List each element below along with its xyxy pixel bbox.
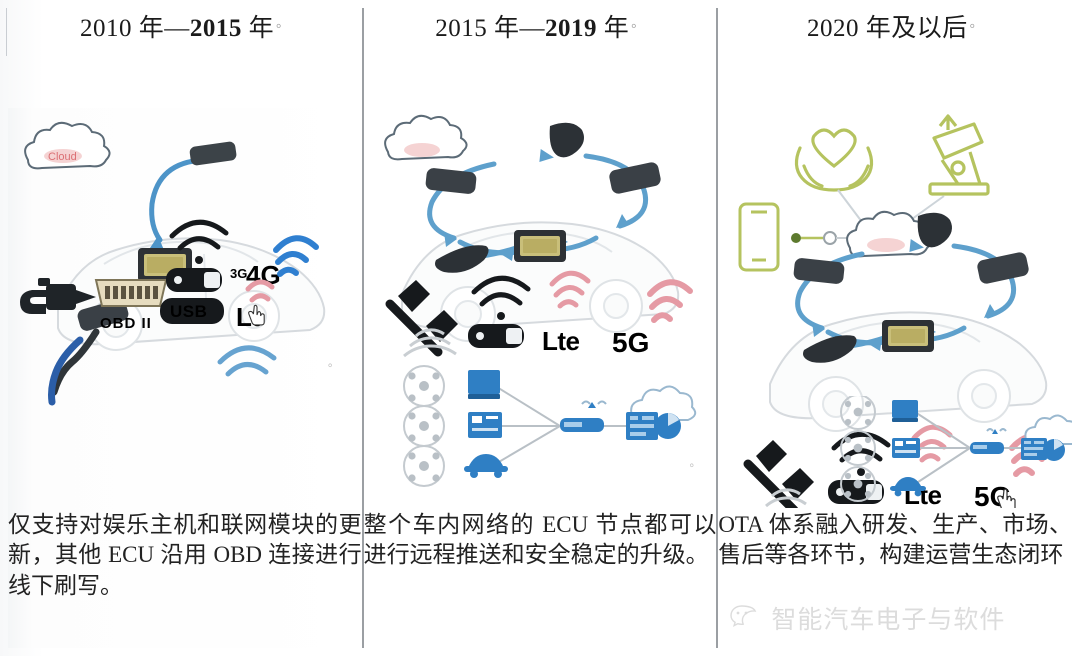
comparison-table: 2010 年—2015 年。 2015 年—2019 年。 2020 年及以后。 — [8, 8, 1072, 648]
network-lte-label: Lt — [236, 302, 260, 332]
network-3g-label: 3G — [230, 266, 247, 281]
figure-cell-2: Lte 5G — [363, 108, 718, 509]
stray-punct-1: 。 — [328, 354, 339, 370]
panel-3-network-topology-diagram — [838, 396, 1072, 508]
header-2-plain: 2015 年— — [435, 15, 545, 42]
vehicle-icon — [464, 454, 508, 478]
page-canvas: 2010 年—2015 年。 2015 年—2019 年。 2020 年及以后。 — [0, 0, 1080, 656]
header-3-plain: 2020 年及以后 — [807, 15, 968, 42]
cloud-storage-icon — [626, 387, 695, 441]
wifi-wave-decor — [220, 348, 274, 374]
cloud-icon — [385, 116, 466, 160]
connector-line — [791, 232, 850, 244]
caption-text-2: 整个车内网络的 ECU 节点都可以进行远程推送和安全稳定的升级。 — [364, 510, 717, 571]
header-2-punct: 。 — [631, 15, 645, 30]
header-3-punct: 。 — [970, 15, 984, 30]
obd-cable — [52, 332, 97, 402]
header-cell-3: 2020 年及以后。 — [717, 8, 1072, 108]
wechat-icon — [730, 604, 764, 632]
robot-arm-icon — [930, 116, 988, 194]
head-unit-module — [514, 230, 566, 262]
network-5g-label: 5G — [612, 327, 649, 358]
ecu-node — [976, 251, 1030, 285]
header-2-tail: 年 — [597, 15, 629, 42]
header-cell-1: 2010 年—2015 年。 — [8, 8, 363, 108]
panel-1-illustration: Cloud — [8, 108, 362, 508]
gateway-icon — [560, 402, 606, 433]
figure-cell-1: Cloud — [8, 108, 363, 509]
ecu-node — [918, 213, 952, 248]
usb-icon: USB — [160, 298, 224, 324]
steering-wheel-node — [845, 401, 871, 497]
header-2-bold: 2019 — [545, 15, 597, 42]
usb-label: USB — [170, 302, 207, 321]
watermark: 智能汽车电子与软件 — [730, 600, 1005, 636]
svg-text:Cloud: Cloud — [48, 151, 77, 163]
table-figure-row: Cloud — [8, 108, 1072, 509]
header-title-2: 2015 年—2019 年。 — [364, 8, 717, 44]
satellite-icon — [748, 440, 814, 508]
network-lte-label: Lte — [542, 326, 580, 356]
table-caption-row: 仅支持对娱乐主机和联网模块的更新，其他 ECU 沿用 OBD 连接进行线下刷写。… — [8, 510, 1072, 648]
gateway-icon — [970, 429, 1006, 454]
caption-cell-1: 仅支持对娱乐主机和联网模块的更新，其他 ECU 沿用 OBD 连接进行线下刷写。 — [8, 510, 363, 648]
caption-cell-2: 整个车内网络的 ECU 节点都可以进行远程推送和安全稳定的升级。 — [363, 510, 718, 648]
ecu-node-roof — [189, 141, 237, 166]
header-title-3: 2020 年及以后。 — [718, 8, 1072, 44]
obd-port-icon — [96, 280, 166, 306]
header-1-bold: 2015 — [190, 15, 242, 42]
header-1-tail: 年 — [242, 15, 274, 42]
header-1-plain: 2010 年— — [80, 15, 190, 42]
stray-punct-2: 。 — [690, 454, 701, 470]
figure-cell-3: Lte 5G — [717, 108, 1072, 509]
watermark-text: 智能汽车电子与软件 — [771, 600, 1005, 636]
hands-heart-icon — [797, 130, 872, 190]
cloud-icon: Cloud — [25, 123, 109, 169]
caption-text-1: 仅支持对娱乐主机和联网模块的更新，其他 ECU 沿用 OBD 连接进行线下刷写。 — [8, 510, 362, 602]
header-1-punct: 。 — [276, 15, 290, 30]
header-cell-2: 2015 年—2019 年。 — [363, 8, 718, 108]
ecu-node — [608, 161, 662, 195]
network-topology-diagram — [404, 366, 695, 486]
steering-wheel-node — [408, 373, 439, 482]
panel-2-illustration: Lte 5G — [364, 108, 718, 508]
ecu-node — [549, 123, 583, 158]
obd-port-label: OBD II — [100, 315, 152, 332]
page-edge-mark — [6, 8, 7, 56]
server-rack-icon — [892, 400, 918, 422]
cloud-storage-icon — [1021, 416, 1072, 462]
head-unit-module — [882, 320, 934, 352]
table-header-row: 2010 年—2015 年。 2015 年—2019 年。 2020 年及以后。 — [8, 8, 1072, 108]
caption-text-3: OTA 体系融入研发、生产、市场、售后等各环节，构建运营生态闭环 — [718, 510, 1072, 571]
database-icon — [468, 412, 502, 438]
header-title-1: 2010 年—2015 年。 — [8, 8, 362, 44]
server-rack-icon — [468, 370, 500, 399]
database-icon — [892, 438, 920, 458]
caption-cell-3: OTA 体系融入研发、生产、市场、售后等各环节，构建运营生态闭环 智能汽车电子与… — [717, 510, 1072, 648]
smartphone-icon — [740, 204, 778, 270]
